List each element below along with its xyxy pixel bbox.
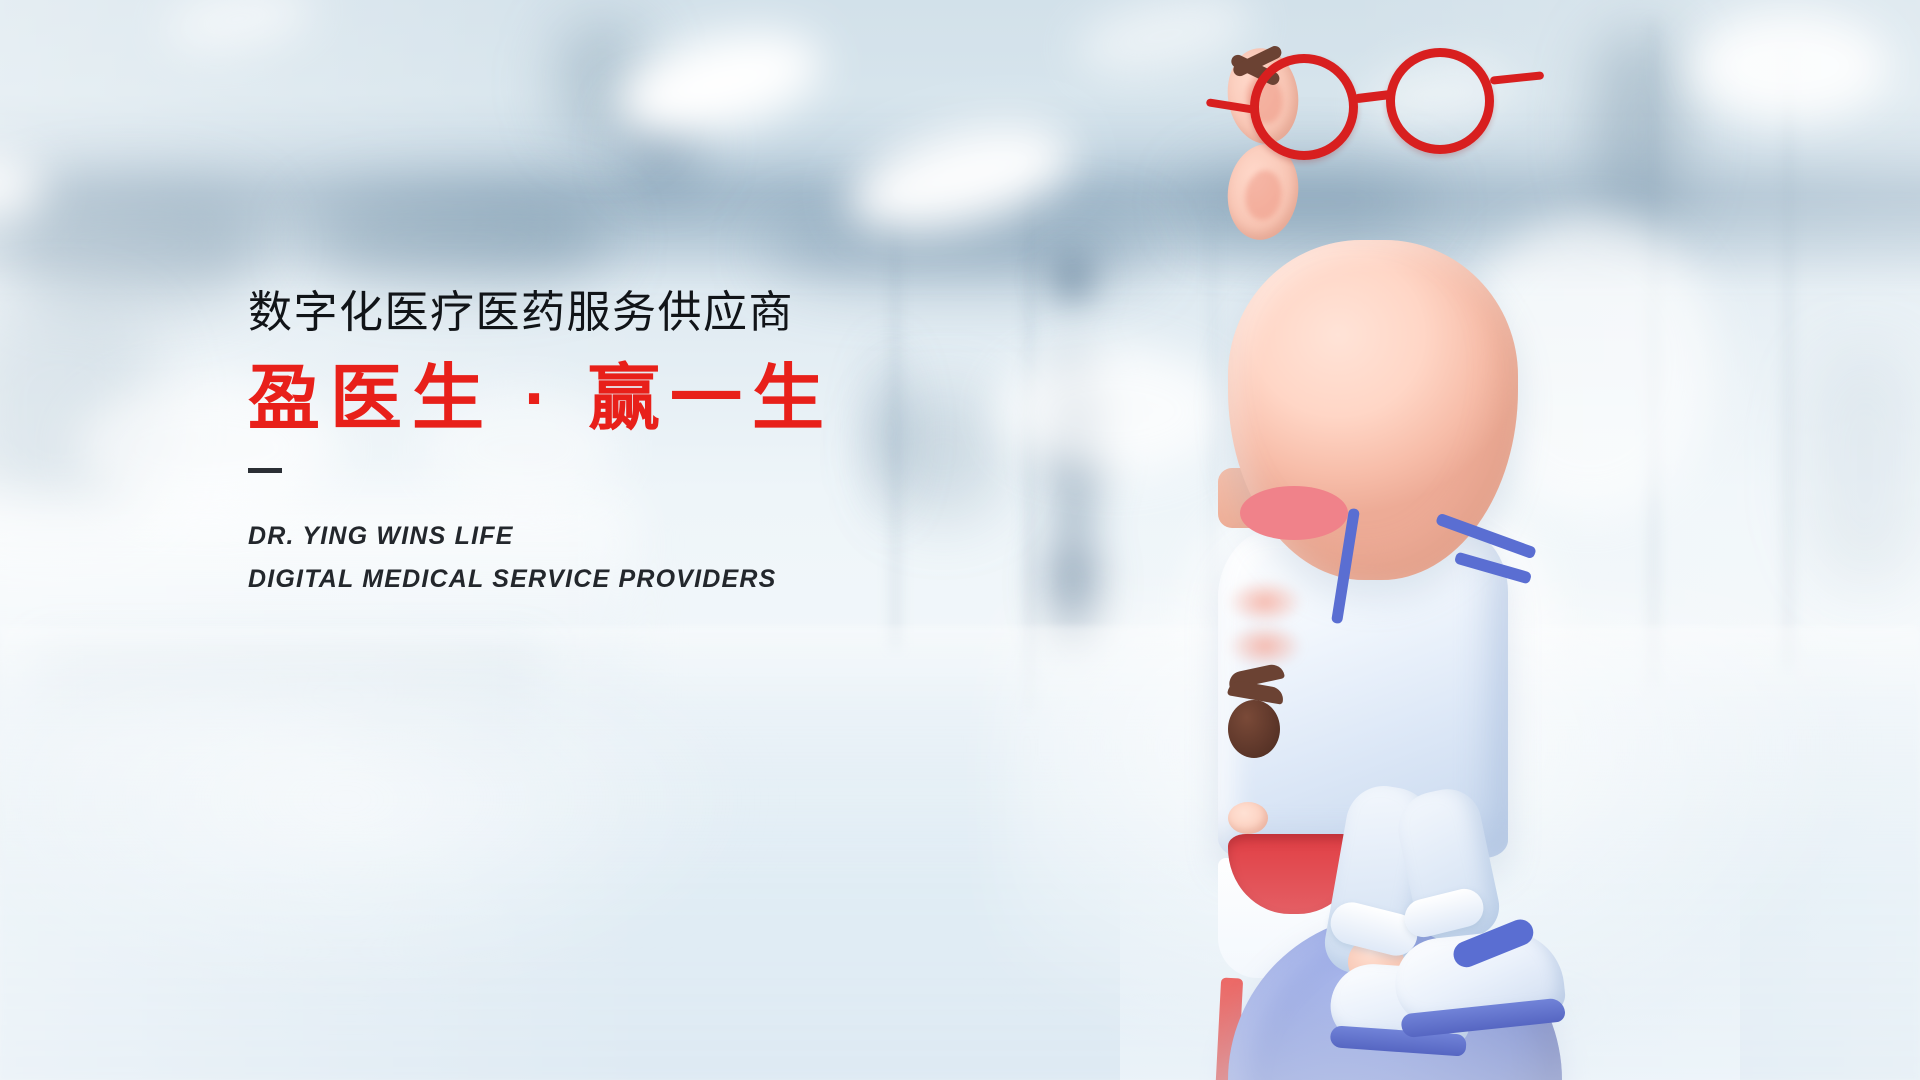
tagline-line-2: DIGITAL MEDICAL SERVICE PROVIDERS xyxy=(248,558,1008,601)
hero-banner: 数字化医疗医药服务供应商 盈医生 · 赢一生 DR. YING WINS LIF… xyxy=(0,0,1920,1080)
hero-subtitle-chinese: 数字化医疗医药服务供应商 xyxy=(248,288,1008,337)
glasses-lens-left xyxy=(1250,54,1358,160)
glasses-lens-right xyxy=(1386,48,1494,154)
doctor-mascot xyxy=(1188,48,1688,1048)
hero-copy-block: 数字化医疗医药服务供应商 盈医生 · 赢一生 DR. YING WINS LIF… xyxy=(248,288,1008,601)
cheek-blush-right xyxy=(1228,624,1302,668)
mascot-head xyxy=(1228,48,1608,518)
eye-winking-right xyxy=(1228,758,1290,802)
hero-tagline-english: DR. YING WINS LIFE DIGITAL MEDICAL SERVI… xyxy=(248,515,1008,601)
divider-rule xyxy=(248,468,282,473)
ear-inner-shadow xyxy=(1242,168,1285,223)
glasses-temple-right xyxy=(1490,71,1545,85)
mascot-shoe-front xyxy=(1391,926,1569,1051)
hero-headline-chinese: 盈医生 · 赢一生 xyxy=(248,357,1008,442)
cheek-blush-left xyxy=(1228,580,1302,624)
mascot-nose xyxy=(1228,802,1268,834)
tagline-line-1: DR. YING WINS LIFE xyxy=(248,515,1008,558)
eye-open-left xyxy=(1228,700,1280,758)
